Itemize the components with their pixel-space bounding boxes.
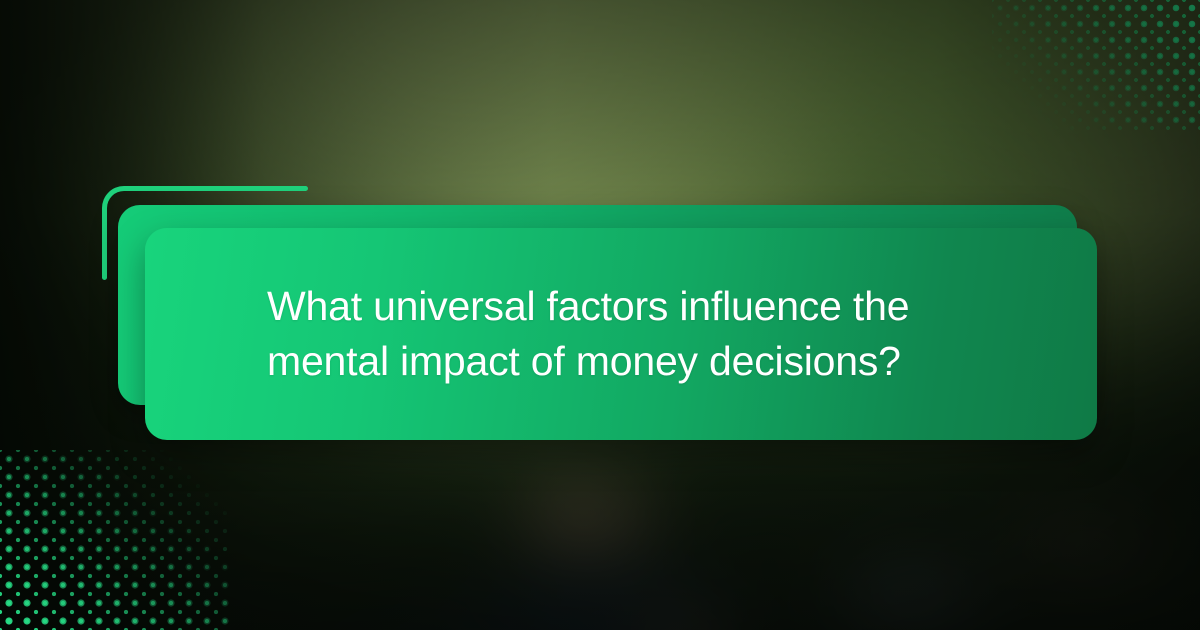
social-card-canvas: What universal factors influence the men… (0, 0, 1200, 630)
halftone-dots-top-right-large-icon (992, 0, 1200, 130)
halftone-dots-bottom-left-large-icon (0, 450, 230, 630)
question-card: What universal factors influence the men… (145, 228, 1097, 440)
card-title: What universal factors influence the men… (267, 279, 909, 389)
